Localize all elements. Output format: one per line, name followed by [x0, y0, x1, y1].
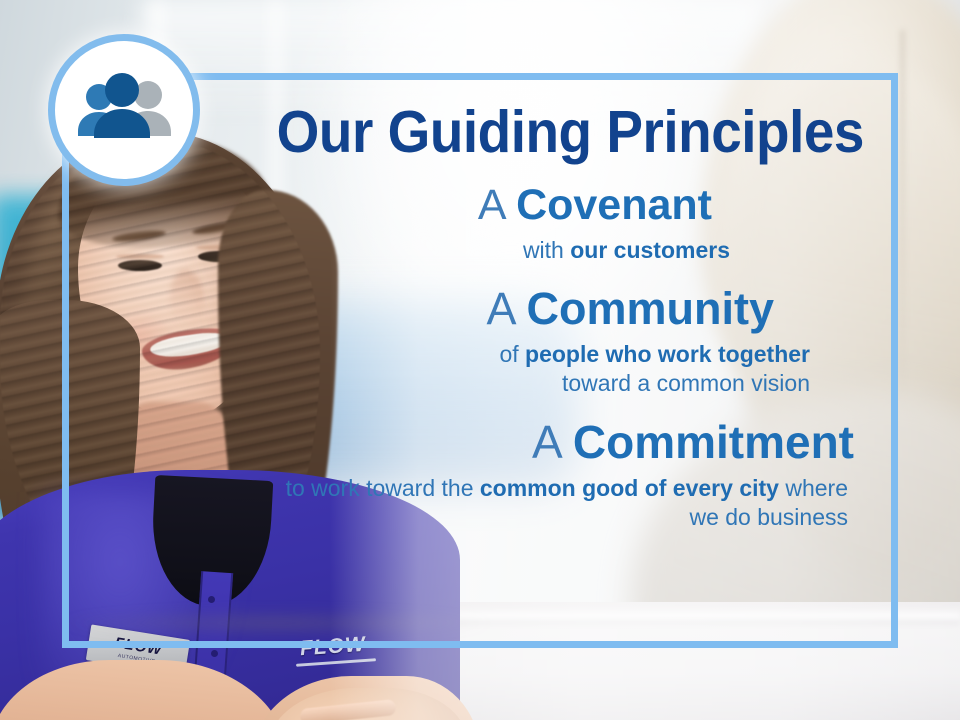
principle-subtext: with our customers	[96, 236, 730, 265]
subtext-prefix: to work toward the	[286, 475, 480, 501]
principle-heading: A Covenant	[96, 184, 712, 228]
subtext-prefix: of	[499, 341, 525, 367]
banner-graphic: FLOW AUTOMOTIVE FLOW	[0, 0, 960, 720]
subtext-prefix: with	[523, 237, 570, 263]
shirt-button	[211, 650, 218, 657]
principle-keyword: Community	[527, 283, 775, 334]
principle-keyword: Covenant	[516, 181, 712, 229]
principle-subtext: of people who work together toward a com…	[96, 340, 810, 397]
subtext-line-1: of people who work together	[96, 340, 810, 369]
subtext-line-2: we do business	[96, 503, 848, 532]
text-content: Our Guiding Principles A Covenant with o…	[62, 73, 898, 648]
subtext-emphasis: people who work together	[525, 341, 810, 367]
principle-keyword: Commitment	[573, 416, 854, 468]
principle-heading: A Commitment	[96, 419, 854, 466]
principle-subtext: to work toward the common good of every …	[96, 474, 848, 531]
principle-article: A	[478, 181, 516, 229]
subtext-line-2: toward a common vision	[96, 369, 810, 398]
principle-community: A Community of people who work together …	[96, 286, 774, 397]
principle-article: A	[486, 283, 526, 334]
subtext-emphasis: common good of every city	[480, 475, 779, 501]
subtext-line-1: to work toward the common good of every …	[96, 474, 848, 503]
subtext-suffix: where	[779, 475, 848, 501]
principle-covenant: A Covenant with our customers	[96, 184, 712, 264]
hair-strand	[900, 30, 905, 450]
principle-article: A	[532, 416, 573, 468]
subtext-emphasis: our customers	[570, 237, 730, 263]
page-title: Our Guiding Principles	[150, 103, 864, 162]
principle-commitment: A Commitment to work toward the common g…	[96, 419, 854, 531]
principle-heading: A Community	[96, 286, 774, 332]
